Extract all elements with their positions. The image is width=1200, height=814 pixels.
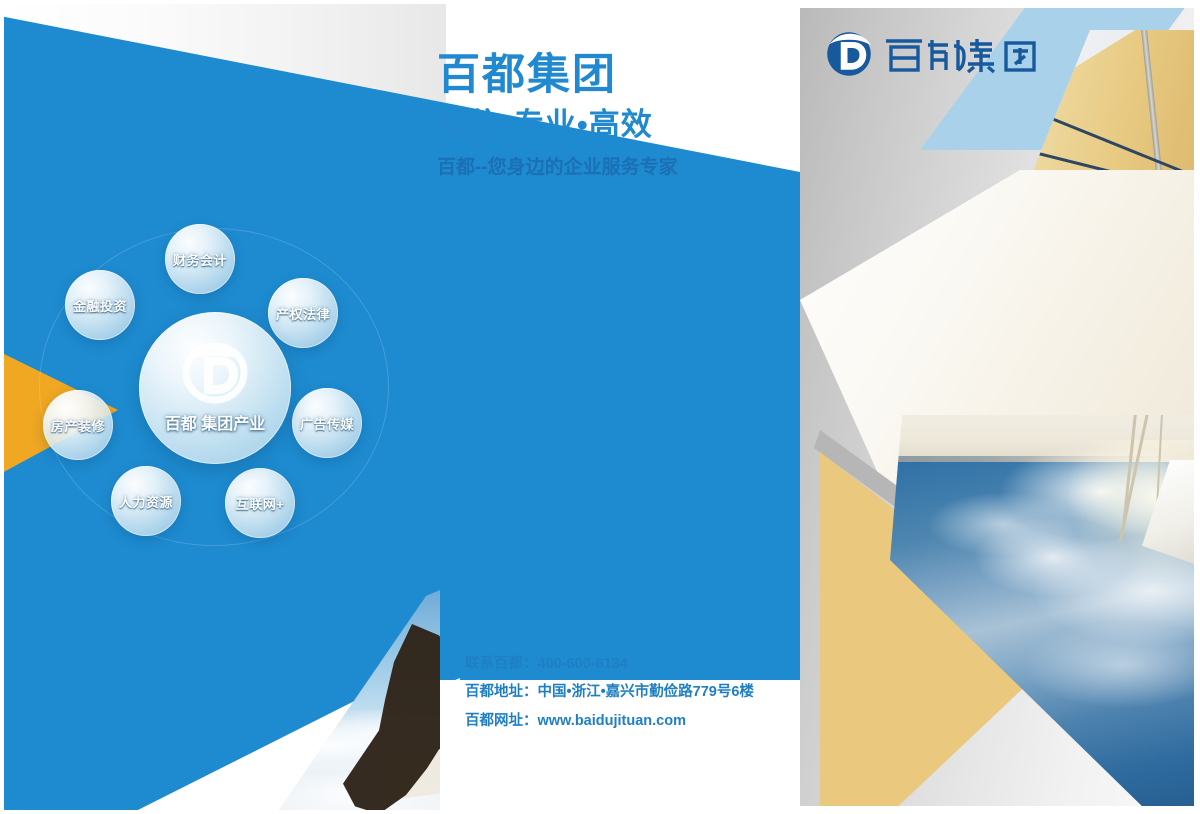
contact-value[interactable]: www.baidujituan.com [538,713,687,729]
right-side-margin [1194,0,1200,814]
bubble-human-resources[interactable]: 人力资源 [111,466,181,536]
right-panel [800,0,1200,814]
headline-tagline: 百都--您身边的企业服务专家 [437,157,777,180]
bubble-ip-law[interactable]: 产权法律 [268,278,338,348]
bubble-label: 广告传媒 [300,414,354,433]
brand-logo[interactable] [825,30,1072,78]
contact-label: 百都地址： [465,684,538,700]
contact-row-website: 百都网址：www.baidujituan.com [465,707,754,735]
bubble-advertising-media[interactable]: 广告传媒 [292,388,362,458]
logo-wordmark-icon [882,34,1072,74]
page-title: 百都集团 [437,52,777,98]
baidu-circle-d-icon [825,30,873,78]
contact-row-phone: 联系百都：400-600-6134 [465,650,754,678]
right-bottom-margin [800,806,1200,814]
contact-label: 百都网址： [465,713,538,729]
bubble-label: 产权法律 [276,304,330,323]
industry-bubble-diagram: 财务会计 金融投资 产权法律 房产装修 广告传媒 人力资源 互联网+ [35,222,395,552]
right-top-margin [800,0,1200,8]
bubble-label: 人力资源 [119,492,173,511]
contact-label: 联系百都： [465,656,538,672]
baidu-d-monogram-icon [178,342,252,408]
bubble-real-estate-renovation[interactable]: 房产装修 [43,390,113,460]
contact-value: 中国•浙江•嘉兴市勤俭路779号6楼 [538,684,754,700]
bubble-label: 金融投资 [73,296,127,315]
left-panel: 财务会计 金融投资 产权法律 房产装修 广告传媒 人力资源 互联网+ [0,0,800,814]
center-bubble-label: 百都 集团产业 [165,410,265,434]
bubble-finance-accounting[interactable]: 财务会计 [165,224,235,294]
headline-block: 百都集团 诚信•专业•高效 百都--您身边的企业服务专家 [437,52,777,179]
headline-subtitle: 诚信•专业•高效 [437,108,777,142]
contact-block: 联系百都：400-600-6134 百都地址：中国•浙江•嘉兴市勤俭路779号6… [465,650,754,735]
bubble-label: 财务会计 [173,250,227,269]
bubble-label: 互联网+ [236,494,285,513]
brochure-page: 财务会计 金融投资 产权法律 房产装修 广告传媒 人力资源 互联网+ [0,0,1200,814]
contact-row-address: 百都地址：中国•浙江•嘉兴市勤俭路779号6楼 [465,678,754,706]
bubble-label: 房产装修 [51,416,105,435]
bubble-center-group-industries[interactable]: 百都 集团产业 [139,312,291,464]
bubble-financial-investment[interactable]: 金融投资 [65,270,135,340]
bubble-internet-plus[interactable]: 互联网+ [225,468,295,538]
contact-value: 400-600-6134 [538,656,628,672]
